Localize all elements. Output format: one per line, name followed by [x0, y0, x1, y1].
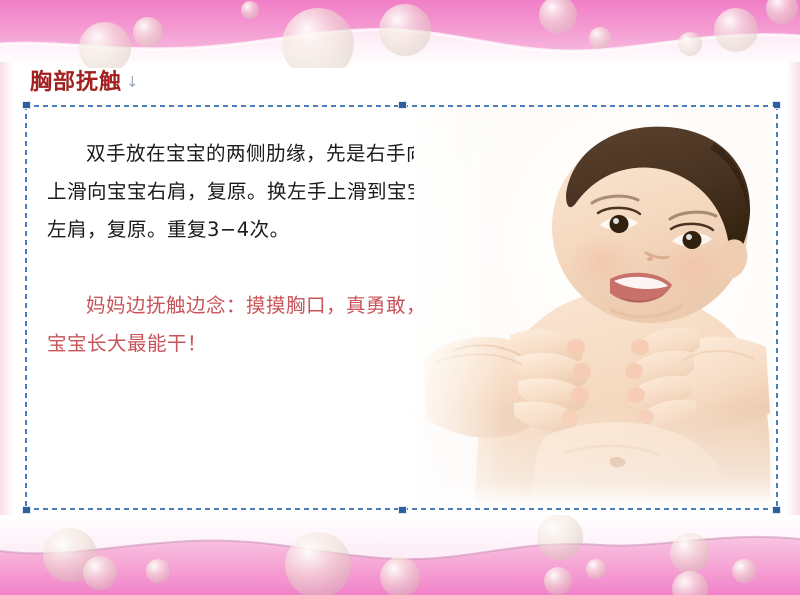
- baby-photo-graphic: [414, 107, 774, 507]
- resize-handle-top-middle[interactable]: [398, 101, 407, 109]
- chant-paragraph: 妈妈边抚触边念：摸摸胸口，真勇敢，宝宝长大最能干！: [47, 287, 427, 363]
- selection-border-right: [776, 105, 778, 510]
- page-title: 胸部抚触↓: [30, 72, 140, 94]
- resize-handle-bottom-middle[interactable]: [398, 506, 407, 514]
- resize-handle-bottom-right[interactable]: [772, 506, 781, 514]
- selection-border-left: [25, 105, 27, 510]
- text-column: 双手放在宝宝的两侧肋缘，先是右手向上滑向宝宝右肩，复原。换左手上滑到宝宝左肩，复…: [47, 135, 427, 363]
- resize-handle-top-left[interactable]: [22, 101, 31, 109]
- resize-handle-bottom-left[interactable]: [22, 506, 31, 514]
- bottom-decorative-wave-banner: [0, 515, 800, 595]
- page-margin-right: [786, 62, 800, 517]
- paragraph-mark-icon: ↓: [126, 73, 140, 91]
- instruction-paragraph: 双手放在宝宝的两侧肋缘，先是右手向上滑向宝宝右肩，复原。换左手上滑到宝宝左肩，复…: [47, 135, 427, 249]
- page-margin-left: [0, 62, 14, 517]
- top-wave-graphic: [0, 0, 800, 68]
- page-title-text: 胸部抚触: [30, 70, 122, 95]
- selected-content-frame[interactable]: 双手放在宝宝的两侧肋缘，先是右手向上滑向宝宝右肩，复原。换左手上滑到宝宝左肩，复…: [25, 105, 778, 510]
- top-decorative-wave-banner: [0, 0, 800, 68]
- slide-page: 胸部抚触↓ 双手放在宝宝的两侧肋缘，先是右手向上滑向宝宝右肩，复原。换左手上滑到…: [0, 0, 800, 595]
- baby-massage-photo: [414, 107, 774, 507]
- bottom-wave-graphic: [0, 515, 800, 595]
